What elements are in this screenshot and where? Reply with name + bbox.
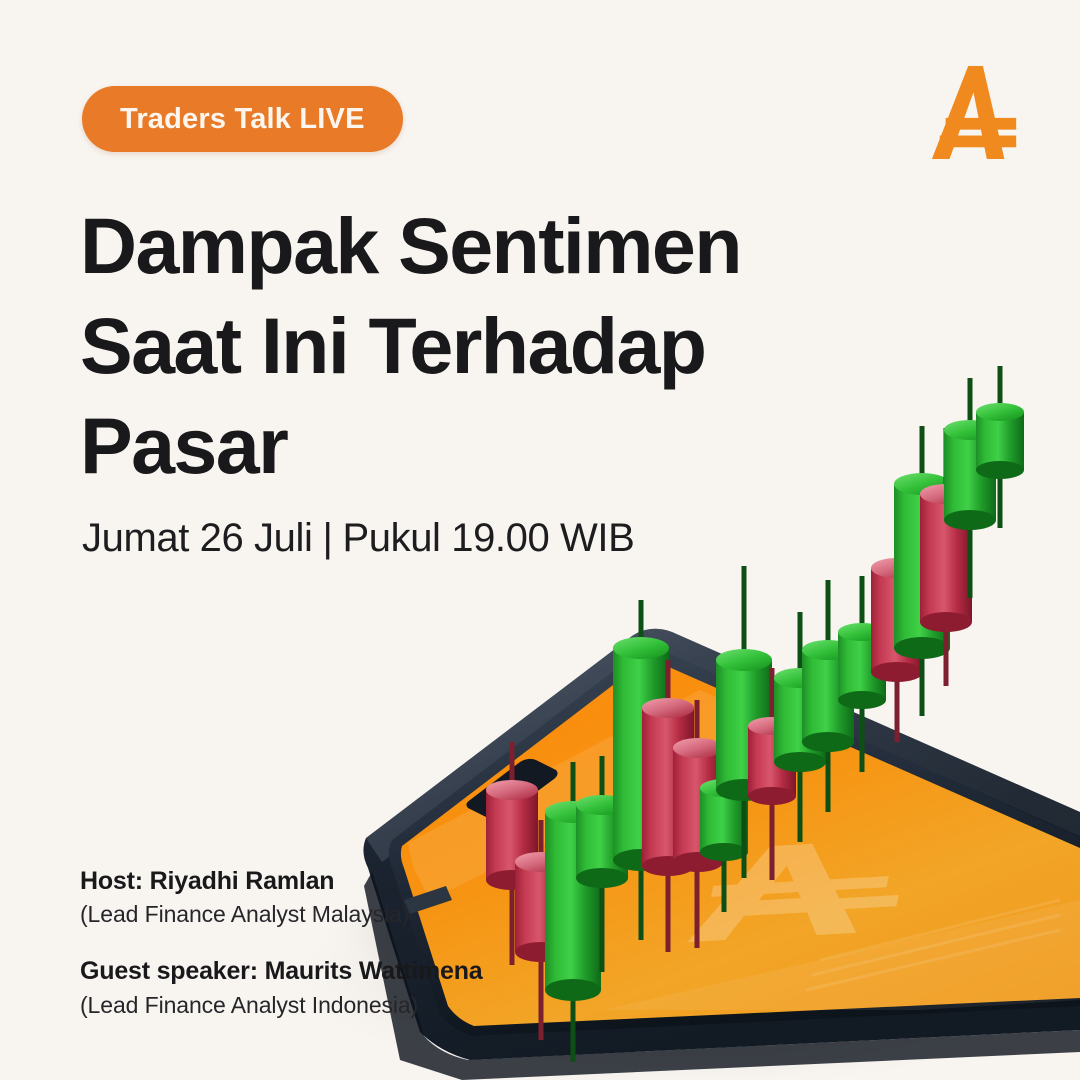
brand-logo-a-icon	[928, 62, 1026, 162]
schedule-time: Pukul 19.00 WIB	[342, 516, 634, 560]
credit-guest: Guest speaker: Maurits Wattimena (Lead F…	[80, 956, 640, 1020]
page-title: Dampak Sentimen Saat Ini Terhadap Pasar	[80, 196, 800, 496]
headline-line-2: Saat Ini Terhadap	[80, 296, 800, 396]
live-session-badge: Traders Talk LIVE	[82, 86, 403, 152]
headline-line-3: Pasar	[80, 396, 800, 496]
promo-poster: Traders Talk LIVE Dampak Sentimen Saat I…	[0, 0, 1080, 1080]
guest-role: (Lead Finance Analyst Indonesia)	[80, 990, 640, 1021]
headline-line-1: Dampak Sentimen	[80, 196, 800, 296]
credit-host: Host: Riyadhi Ramlan (Lead Finance Analy…	[80, 866, 640, 930]
host-role: (Lead Finance Analyst Malaysia)	[80, 899, 640, 930]
schedule-date: Jumat 26 Juli	[82, 516, 312, 560]
guest-name: Guest speaker: Maurits Wattimena	[80, 956, 640, 987]
schedule-line: Jumat 26 Juli|Pukul 19.00 WIB	[82, 516, 634, 561]
schedule-separator: |	[322, 516, 332, 560]
credits-list: Host: Riyadhi Ramlan (Lead Finance Analy…	[80, 866, 640, 1047]
host-name: Host: Riyadhi Ramlan	[80, 866, 640, 897]
